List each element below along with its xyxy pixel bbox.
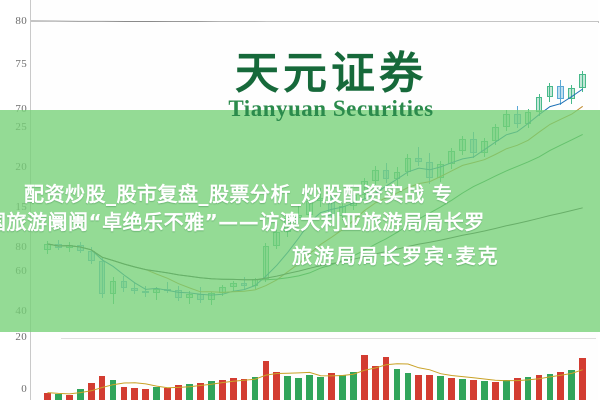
axis-label-sec-15: 15 xyxy=(0,201,27,213)
oscillator-plot xyxy=(30,0,598,22)
axis-label-price-40: 40 xyxy=(0,305,27,317)
oscillator-pane xyxy=(0,0,600,22)
ma-line-ma10 xyxy=(48,106,583,292)
oscillator-line xyxy=(31,0,599,22)
ma-line-ma5 xyxy=(48,89,583,295)
price-pane xyxy=(0,22,600,336)
axis-label-osc-80: 80 xyxy=(0,15,27,27)
axis-label-price-60: 60 xyxy=(0,265,27,277)
volume-ma-line xyxy=(31,336,599,400)
axis-label-osc-75: 75 xyxy=(0,58,27,70)
axis-label-sec-20: 20 xyxy=(0,161,27,173)
price-plot xyxy=(30,22,598,336)
axis-label-vol-0: 0 xyxy=(0,383,27,395)
axis-label-osc-70: 70 xyxy=(0,103,27,115)
volume-plot xyxy=(30,336,598,400)
screenshot-root: 807570252015806040200 天元证券 Tianyuan Secu… xyxy=(0,0,600,400)
volume-pane xyxy=(0,336,600,400)
axis-label-vol-20: 20 xyxy=(0,331,27,343)
axis-label-sec-25: 25 xyxy=(0,121,27,133)
ma-line-ma20 xyxy=(48,134,583,279)
gridline xyxy=(61,338,596,339)
ma-line-ma60 xyxy=(48,208,583,280)
axis-label-price-80: 80 xyxy=(0,241,27,253)
moving-average-lines xyxy=(31,22,599,336)
